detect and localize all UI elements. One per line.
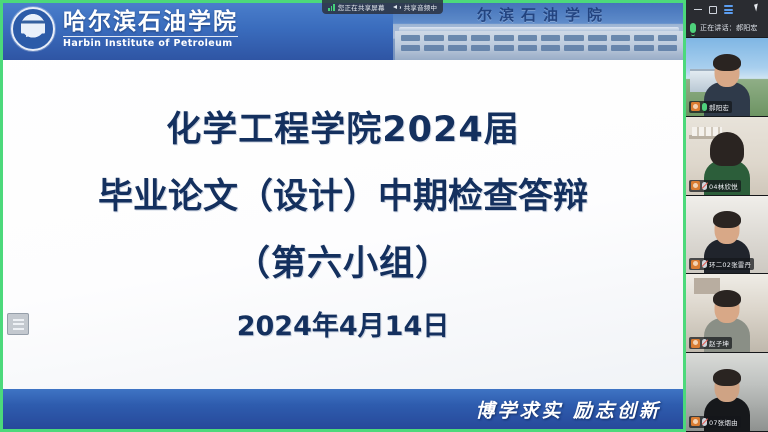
participant-name: 郝阳宏: [709, 102, 729, 112]
layout-grid-icon[interactable]: [724, 5, 733, 14]
speaking-indicator-label: 正在讲话：郝阳宏: [700, 23, 758, 33]
slide-title-line-2: 毕业论文（设计）中期检查答辩: [98, 168, 588, 219]
sharing-status-label: 您正在共享屏幕: [338, 2, 385, 12]
university-name-en: Harbin Institute of Petroleum: [63, 36, 238, 49]
slide-footer-band: 博学求实 励志创新: [3, 389, 683, 429]
screen-share-toolbar[interactable]: 您正在共享屏幕 共享音频中: [322, 0, 443, 14]
avatar-icon: [691, 417, 700, 426]
audio-status-item: 共享音频中: [393, 2, 438, 12]
participant-tile[interactable]: 赵子坤: [686, 274, 768, 353]
list-menu-icon[interactable]: [7, 313, 29, 335]
mouse-cursor-icon: [754, 4, 760, 12]
campus-photo-caption: 尔滨石油学院: [423, 4, 663, 25]
participant-name: 环二02张雷丹: [709, 259, 751, 269]
university-motto: 博学求实 励志创新: [475, 396, 661, 423]
participant-tile[interactable]: 环二02张雷丹: [686, 196, 768, 275]
slide-title-block: 化学工程学院2024届 毕业论文（设计）中期检查答辩 （第六小组） 2024年4…: [3, 60, 683, 383]
shared-screen-region: 尔滨石油学院 HIP 哈尔滨石油学院 Harbin Institute of P…: [0, 0, 686, 432]
maximize-icon[interactable]: [709, 6, 717, 14]
participant-panel: 正在讲话：郝阳宏 郝阳宏: [686, 0, 768, 432]
slide-title-line-3: （第六小组）: [235, 235, 451, 286]
slide-title-line-1: 化学工程学院2024届: [166, 101, 519, 152]
window-row: [401, 45, 677, 51]
participant-tiles: 郝阳宏 04林欣悦: [686, 38, 768, 432]
participant-name-badge: 赵子坤: [689, 337, 732, 349]
building-facade: [395, 31, 683, 60]
window-row: [401, 35, 677, 41]
participant-name: 赵子坤: [709, 338, 729, 348]
mic-icon: [690, 23, 696, 33]
participant-name: 07张烟由: [709, 417, 738, 427]
avatar-icon: [691, 102, 700, 111]
speaking-indicator: 正在讲话：郝阳宏: [686, 19, 768, 38]
logo-text-block: 哈尔滨石油学院 Harbin Institute of Petroleum: [63, 10, 238, 49]
avatar-icon: [691, 260, 700, 269]
meeting-screen-share-window: 尔滨石油学院 HIP 哈尔滨石油学院 Harbin Institute of P…: [0, 0, 768, 432]
participant-tile[interactable]: 04林欣悦: [686, 117, 768, 196]
participant-name-badge: 环二02张雷丹: [689, 258, 754, 270]
university-logo: HIP 哈尔滨石油学院 Harbin Institute of Petroleu…: [11, 7, 238, 51]
mic-icon: [702, 103, 707, 111]
audio-status-label: 共享音频中: [404, 2, 438, 12]
presentation-slide: 尔滨石油学院 HIP 哈尔滨石油学院 Harbin Institute of P…: [3, 3, 683, 429]
speaker-icon: [393, 4, 401, 11]
participant-name-badge: 04林欣悦: [689, 180, 741, 192]
mic-muted-icon: [702, 418, 707, 426]
mic-muted-icon: [702, 260, 707, 268]
participant-name-badge: 郝阳宏: [689, 101, 732, 113]
slide-date: 2024年4月14日: [237, 304, 450, 343]
avatar-icon: [691, 181, 700, 190]
signal-bars-icon: [328, 4, 335, 11]
participant-tile[interactable]: 郝阳宏: [686, 38, 768, 117]
crest-abbreviation: HIP: [13, 31, 53, 39]
mic-muted-icon: [702, 182, 707, 190]
minimize-icon[interactable]: [694, 9, 702, 11]
sharing-status-item: 您正在共享屏幕: [328, 2, 385, 12]
mic-muted-icon: [702, 339, 707, 347]
window-controls: [686, 0, 768, 19]
participant-name-badge: 07张烟由: [689, 416, 741, 428]
university-name-cn: 哈尔滨石油学院: [63, 10, 238, 33]
university-crest-icon: HIP: [11, 7, 55, 51]
participant-tile[interactable]: 07张烟由: [686, 353, 768, 432]
participant-name: 04林欣悦: [709, 181, 738, 191]
avatar-icon: [691, 339, 700, 348]
